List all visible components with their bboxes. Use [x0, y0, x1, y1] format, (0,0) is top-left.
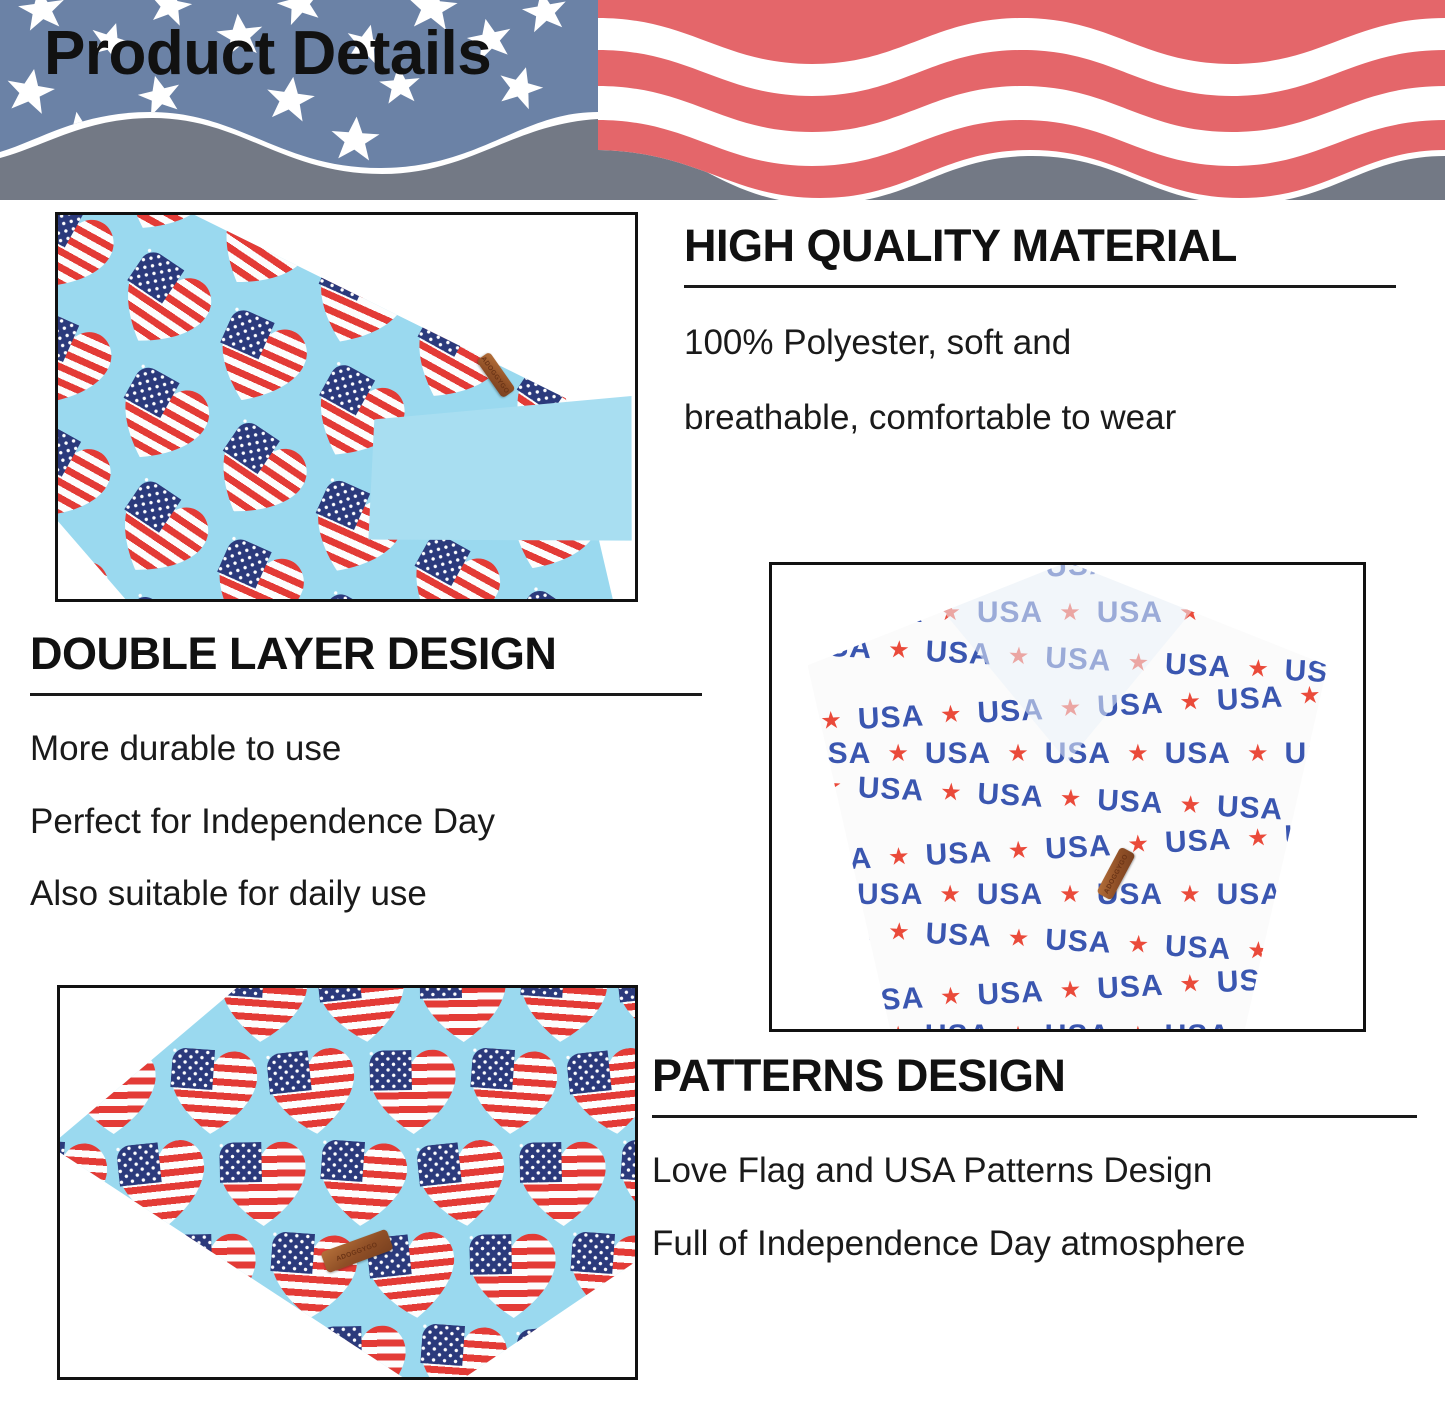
section-line: Full of Independence Day atmosphere — [652, 1225, 1427, 1264]
usa-print-row: ★USA★USA★USA★USA★USA★USA — [808, 1012, 1328, 1032]
product-photo-usa-bandana: ★USA★USA★USA★USA★USA★USA★USA★USA★USA★USA… — [769, 562, 1366, 1032]
heart-bandana-fabric — [57, 985, 638, 1380]
usa-word: USA — [1165, 1019, 1231, 1033]
heart-stripes — [216, 1322, 311, 1380]
star-icon: ★ — [887, 562, 910, 587]
heart-star-canton — [266, 1050, 312, 1094]
heart-star-canton — [566, 1050, 612, 1094]
star-icon: ★ — [939, 883, 961, 907]
usa-word: USA — [1097, 596, 1163, 630]
heart-stripes — [117, 1323, 209, 1380]
star-icon: ★ — [887, 1024, 909, 1033]
heart-star-canton — [420, 1323, 465, 1366]
star-icon: ★ — [819, 990, 842, 1015]
heart-star-canton — [570, 1231, 615, 1274]
heart-flag-motif — [467, 1047, 559, 1139]
heart-flag-motif — [519, 1141, 606, 1228]
star-icon: ★ — [887, 920, 910, 945]
usa-word: USA — [976, 975, 1044, 1012]
heart-flag-motif — [57, 1139, 109, 1231]
heart-flag-motif — [69, 1049, 156, 1136]
section-line: breathable, comfortable to wear — [684, 399, 1406, 438]
usa-word: USA — [976, 777, 1044, 814]
heart-star-canton — [116, 1142, 162, 1186]
usa-word: USA — [1217, 596, 1283, 630]
heart-flag-motif — [66, 1230, 161, 1325]
star-icon: ★ — [939, 780, 962, 805]
star-icon: ★ — [1007, 838, 1030, 863]
star-icon: ★ — [1178, 689, 1201, 714]
heart-stripes — [57, 985, 110, 1048]
heart-flag-motif — [117, 1323, 209, 1380]
heart-flag-motif — [101, 247, 220, 366]
heart-flag-motif — [57, 985, 110, 1048]
heart-star-canton — [57, 985, 62, 1003]
usa-print-pattern: ★USA★USA★USA★USA★USA★USA★USA★USA★USA★USA… — [808, 562, 1328, 1032]
heart-flag-motif — [104, 212, 221, 250]
star-icon: ★ — [1007, 926, 1030, 951]
star-icon: ★ — [887, 638, 910, 663]
heart-flag-motif — [294, 589, 411, 602]
heart-star-canton — [620, 1139, 638, 1182]
heart-flag-motif — [417, 1323, 509, 1380]
star-icon: ★ — [887, 742, 909, 766]
usa-word: USA — [1096, 686, 1164, 723]
heart-flag-motif — [517, 985, 609, 1047]
heart-flag-motif — [116, 1138, 211, 1233]
heart-star-canton — [320, 1139, 365, 1182]
usa-word: USA — [1284, 737, 1327, 771]
star-icon: ★ — [1299, 883, 1321, 907]
heart-flag-motif — [119, 985, 206, 1045]
star-icon: ★ — [1127, 742, 1149, 766]
heart-star-canton — [120, 1323, 165, 1366]
section-line: More durable to use — [30, 730, 710, 769]
heart-flag-motif — [217, 985, 309, 1047]
heart-flag-motif — [300, 247, 414, 361]
heart-flag-motif — [416, 1138, 511, 1233]
star-icon: ★ — [820, 883, 842, 907]
usa-word: USA — [1284, 1019, 1327, 1033]
star-icon: ★ — [1007, 562, 1030, 581]
heart-flag-motif — [619, 1325, 638, 1380]
heart-stripes — [57, 1325, 107, 1380]
section-double-layer-design: DOUBLE LAYER DESIGN More durable to use … — [30, 630, 710, 914]
star-icon: ★ — [887, 844, 910, 869]
heart-flag-motif — [216, 1322, 311, 1380]
star-icon: ★ — [1007, 742, 1029, 766]
usa-word: USA — [1165, 737, 1231, 771]
heart-stripes — [98, 592, 215, 602]
heart-flag-motif — [469, 1233, 556, 1320]
star-icon: ★ — [939, 702, 962, 727]
heart-flag-motif — [392, 531, 509, 602]
section-patterns-design: PATTERNS DESIGN Love Flag and USA Patter… — [652, 1052, 1427, 1263]
heart-star-canton — [616, 985, 638, 1003]
heart-star-canton — [316, 589, 372, 602]
heart-star-canton — [169, 1234, 212, 1275]
star-icon: ★ — [1179, 883, 1201, 907]
section-title: PATTERNS DESIGN — [652, 1052, 1427, 1099]
usa-word: USA — [1283, 935, 1327, 972]
section-title: DOUBLE LAYER DESIGN — [30, 630, 710, 677]
usa-word: USA — [1164, 562, 1232, 578]
title-divider — [652, 1115, 1417, 1118]
usa-word: USA — [924, 635, 992, 672]
heart-stripes — [294, 589, 411, 602]
heart-star-canton — [220, 985, 265, 998]
star-icon: ★ — [1247, 742, 1269, 766]
heart-flag-motif — [219, 1141, 306, 1228]
section-high-quality-material: HIGH QUALITY MATERIAL 100% Polyester, so… — [684, 222, 1406, 437]
usa-word: USA — [1283, 562, 1327, 572]
star-icon: ★ — [1179, 601, 1201, 625]
heart-flag-motif — [98, 476, 217, 595]
star-icon: ★ — [1126, 932, 1149, 957]
heart-flag-motif — [98, 592, 215, 602]
heart-flag-motif — [617, 1139, 638, 1231]
usa-word: USA — [1096, 968, 1164, 1005]
section-line: Love Flag and USA Patterns Design — [652, 1152, 1427, 1191]
heart-star-canton — [319, 1326, 362, 1367]
usa-word: USA — [808, 628, 873, 665]
heart-stripes — [319, 1325, 406, 1380]
heart-flag-motif — [488, 586, 607, 602]
heart-star-canton — [57, 1326, 62, 1367]
star-icon: ★ — [1059, 601, 1081, 625]
usa-word: USA — [808, 562, 873, 597]
usa-word: USA — [1044, 562, 1112, 584]
star-icon: ★ — [1299, 601, 1321, 625]
usa-word: USA — [925, 737, 991, 771]
heart-star-canton — [57, 1139, 65, 1182]
heart-star-canton — [419, 985, 462, 999]
section-line: 100% Polyester, soft and — [684, 324, 1406, 363]
usa-word: USA — [1283, 816, 1327, 853]
star-icon: ★ — [1298, 799, 1321, 824]
section-line: Also suitable for daily use — [30, 875, 710, 914]
star-icon: ★ — [939, 984, 962, 1009]
heart-flag-motif — [55, 212, 123, 309]
star-icon: ★ — [1246, 826, 1269, 851]
star-icon: ★ — [1059, 883, 1081, 907]
star-icon: ★ — [819, 774, 842, 799]
star-icon: ★ — [1126, 562, 1149, 575]
star-icon: ★ — [1246, 562, 1269, 569]
star-icon: ★ — [1059, 696, 1082, 721]
heart-star-canton — [270, 1231, 315, 1274]
heart-flag-motif — [317, 1139, 409, 1231]
heart-flag-motif — [57, 1325, 107, 1380]
title-divider — [684, 285, 1396, 288]
star-icon: ★ — [1298, 683, 1321, 708]
usa-word: USA — [1216, 680, 1284, 717]
star-icon: ★ — [1059, 786, 1082, 811]
page-title: Product Details — [44, 18, 491, 89]
heart-flag-motif — [266, 1046, 361, 1141]
usa-word: USA — [808, 1019, 872, 1033]
star-icon: ★ — [820, 601, 842, 625]
heart-star-canton — [619, 1326, 638, 1367]
heart-star-canton — [119, 985, 162, 999]
usa-word: USA — [1044, 923, 1112, 960]
star-icon: ★ — [1126, 650, 1149, 675]
heart-stripes — [57, 1139, 109, 1231]
usa-word: USA — [857, 596, 923, 630]
usa-word: USA — [925, 1019, 991, 1033]
usa-word: USA — [1044, 641, 1112, 678]
heart-stripes — [119, 985, 206, 1045]
heart-star-canton — [219, 1142, 262, 1183]
heart-star-canton — [516, 1326, 562, 1370]
heart-star-canton — [170, 1047, 215, 1090]
usa-word: USA — [1164, 822, 1232, 859]
usa-word: USA — [1096, 783, 1164, 820]
heart-star-canton — [416, 1142, 462, 1186]
heart-star-canton — [470, 1047, 515, 1090]
heart-stripes — [169, 1233, 256, 1320]
heart-stripes — [69, 1049, 156, 1136]
heart-flag-motif — [516, 1322, 611, 1380]
heart-flag-motif — [369, 1049, 456, 1136]
heart-flag-motif — [567, 1231, 638, 1323]
usa-word: USA — [856, 771, 924, 808]
heart-flag-motif — [316, 985, 411, 1048]
heart-star-canton — [519, 1142, 562, 1183]
heart-stripes — [300, 247, 414, 361]
star-icon: ★ — [1007, 644, 1030, 669]
usa-word: USA — [1045, 737, 1111, 771]
heart-star-canton — [69, 1050, 112, 1091]
star-icon: ★ — [1007, 1024, 1029, 1033]
usa-word: USA — [924, 917, 992, 954]
usa-word: USA — [1216, 962, 1284, 999]
star-icon: ★ — [1127, 1024, 1149, 1033]
header-flag-banner: Product Details — [0, 0, 1445, 200]
heart-star-canton — [216, 1326, 262, 1370]
heart-flag-motif — [167, 1047, 259, 1139]
product-photo-folded-bandana: ADOGGYGO — [55, 212, 638, 602]
star-icon: ★ — [1298, 965, 1321, 990]
heart-star-canton — [66, 1234, 112, 1278]
heart-star-canton — [55, 538, 76, 592]
heart-flag-motif — [201, 306, 315, 420]
usa-word: USA — [1045, 1019, 1111, 1033]
product-photo-heart-bandana: ADOGGYGO — [57, 985, 638, 1380]
usa-word: USA — [924, 562, 992, 590]
star-icon: ★ — [939, 601, 961, 625]
usa-word: USA — [1044, 829, 1112, 866]
title-divider — [30, 693, 702, 696]
heart-flag-motif — [566, 1046, 638, 1141]
heart-flag-motif — [419, 985, 506, 1045]
heart-stripes — [619, 1325, 638, 1380]
heart-star-canton — [469, 1234, 512, 1275]
usa-word: USA — [808, 910, 873, 947]
heart-stripes — [66, 1230, 161, 1325]
heart-flag-motif — [198, 535, 312, 602]
heart-star-canton — [514, 586, 571, 602]
usa-word: USA — [976, 693, 1044, 730]
usa-bandana-fabric: ★USA★USA★USA★USA★USA★USA★USA★USA★USA★USA… — [808, 562, 1328, 1032]
star-icon: ★ — [1178, 792, 1201, 817]
usa-print-row: ★USA★USA★USA★USA★USA★USA — [820, 589, 1328, 636]
star-icon: ★ — [1178, 971, 1201, 996]
section-title: HIGH QUALITY MATERIAL — [684, 222, 1406, 269]
heart-flag-motif — [616, 985, 638, 1048]
heart-flag-motif — [169, 1233, 256, 1320]
usa-word: USA — [1217, 878, 1283, 912]
usa-word: USA — [977, 878, 1043, 912]
heart-star-canton — [369, 1050, 412, 1091]
heart-stripes — [104, 212, 221, 250]
usa-word: USA — [924, 835, 992, 872]
heart-flag-motif — [319, 1325, 406, 1380]
star-icon: ★ — [1059, 978, 1082, 1003]
section-line: Perfect for Independence Day — [30, 803, 710, 842]
star-icon: ★ — [1247, 1024, 1269, 1033]
usa-word: USA — [977, 596, 1043, 630]
heart-flag-motif — [55, 308, 119, 422]
